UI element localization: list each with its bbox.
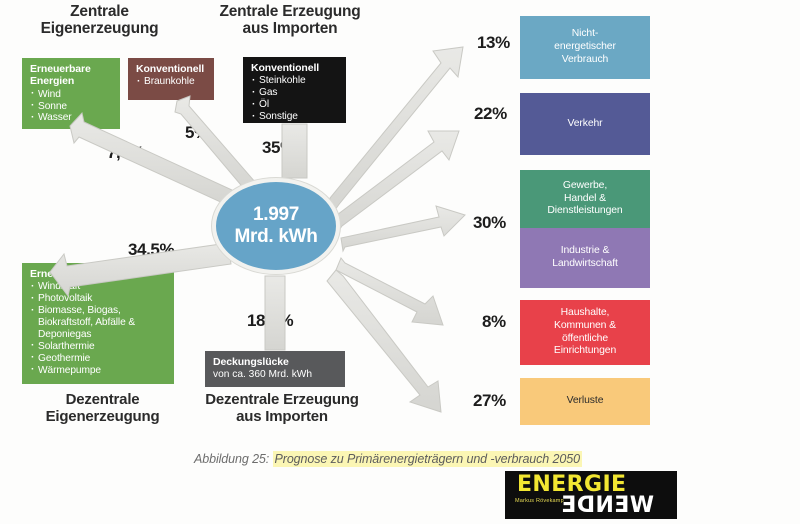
center-total-bubble: 1.997 Mrd. kWh (212, 178, 340, 274)
center-total-unit: Mrd. kWh (234, 226, 317, 248)
arrow-in-dezentral-ee (50, 243, 231, 296)
center-total-value: 1.997 (253, 204, 299, 226)
arrow-in-deckungsluecke (265, 276, 285, 350)
figure-canvas: Zentrale Eigenerzeugung Zentrale Erzeugu… (0, 0, 800, 524)
flow-arrows (0, 0, 800, 524)
arrow-in-import-konv (282, 124, 307, 178)
